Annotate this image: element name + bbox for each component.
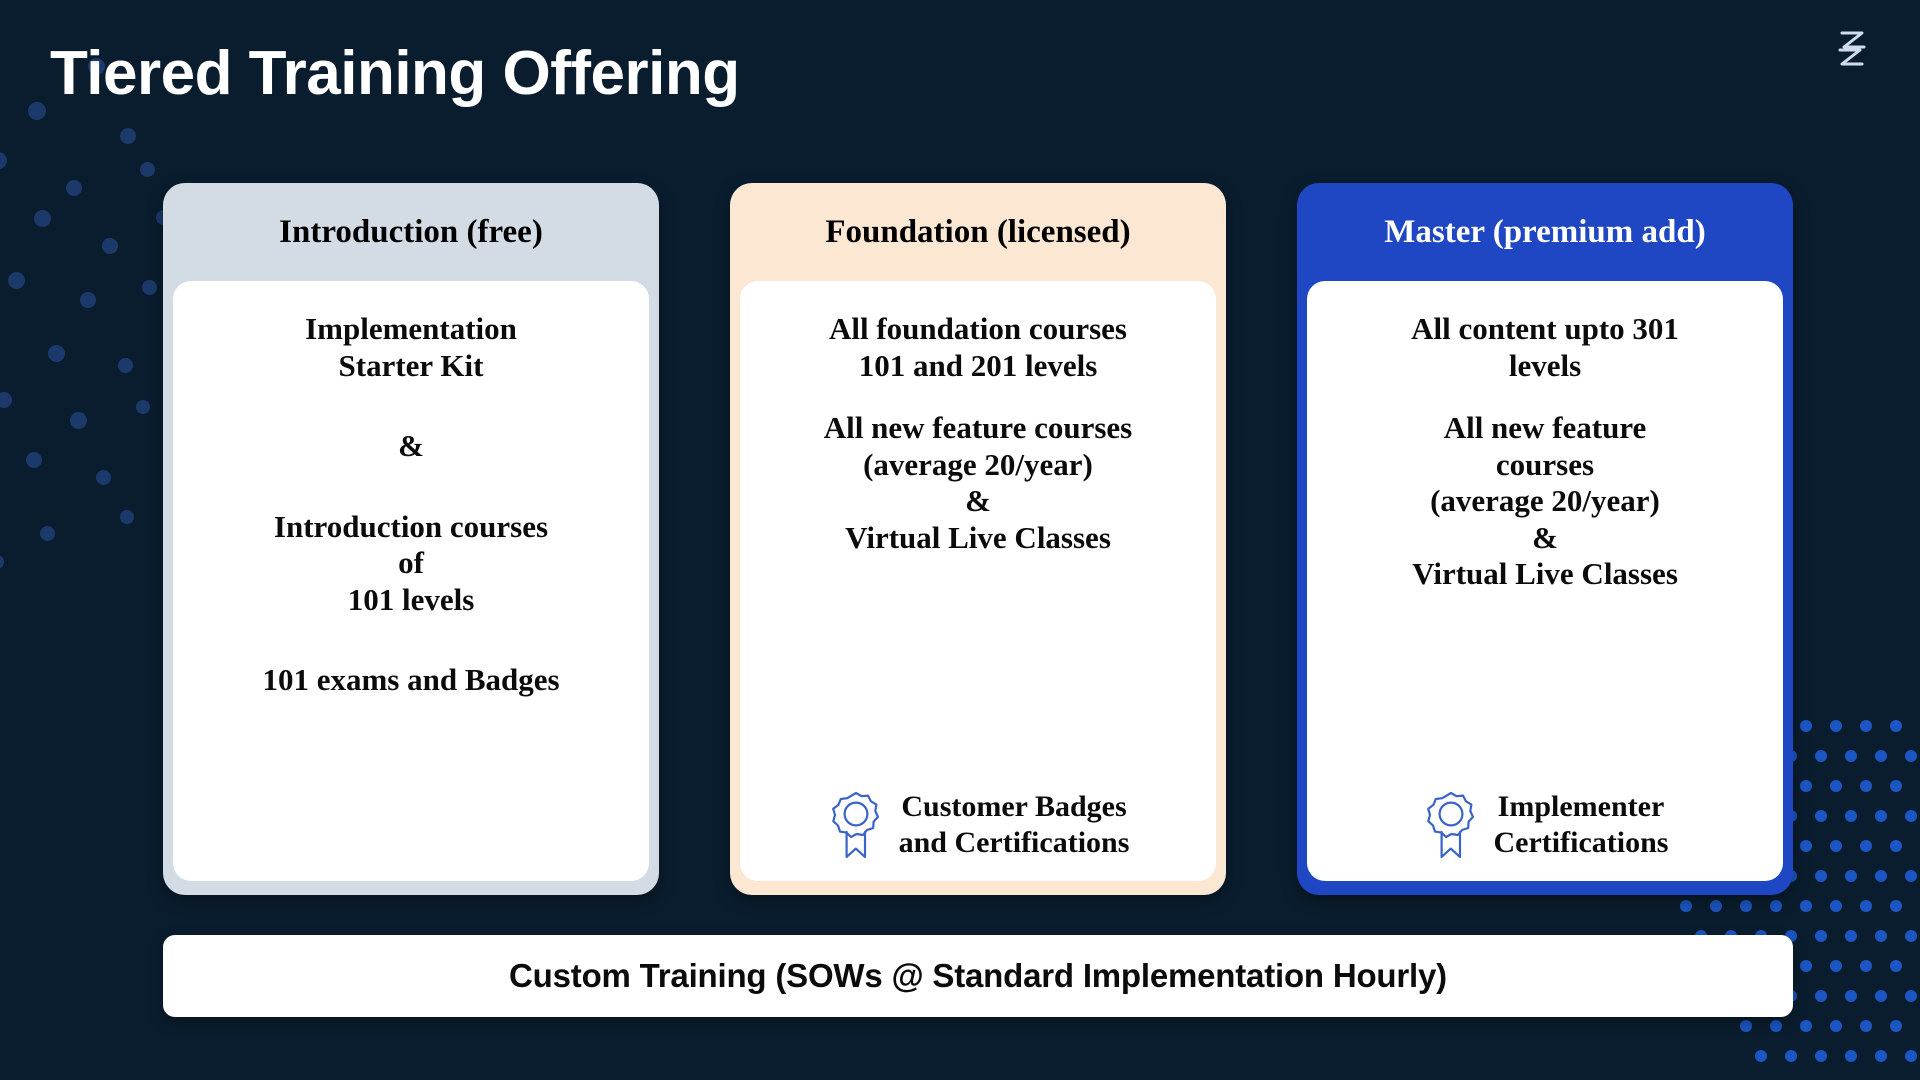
tier-badge-label: Customer Badges and Certifications — [899, 789, 1130, 861]
tier-card-title-master: Master (premium add) — [1297, 183, 1793, 281]
background-dot — [1800, 720, 1812, 732]
tier-card-master[interactable]: Master (premium add) All content upto 30… — [1297, 183, 1793, 895]
background-dot — [1860, 960, 1872, 972]
tier-card-body-introduction: Implementation Starter Kit & Introductio… — [173, 281, 649, 881]
background-dot — [1860, 780, 1872, 792]
award-badge-icon — [1422, 789, 1480, 861]
background-dot — [0, 555, 4, 569]
page-title: Tiered Training Offering — [50, 40, 740, 108]
background-dot — [1845, 810, 1857, 822]
background-dot — [1815, 990, 1827, 1002]
background-dot — [1830, 840, 1842, 852]
background-dot — [1815, 750, 1827, 762]
background-dot — [140, 162, 155, 177]
background-dot — [1890, 960, 1902, 972]
tier-feature-text: 101 exams and Badges — [262, 662, 559, 699]
background-dot — [120, 128, 136, 144]
background-dot — [1905, 1050, 1917, 1062]
background-dot — [1875, 990, 1887, 1002]
tier-feature-text: Implementation Starter Kit — [305, 311, 517, 384]
background-dot — [1905, 990, 1917, 1002]
company-logo-icon — [1824, 20, 1880, 76]
background-dot — [0, 152, 7, 169]
background-dot — [66, 180, 82, 196]
background-dot — [1875, 870, 1887, 882]
background-dot — [0, 392, 12, 408]
background-dot — [1815, 870, 1827, 882]
background-dot — [1860, 720, 1872, 732]
background-dot — [1875, 810, 1887, 822]
background-dot — [1740, 1020, 1752, 1032]
background-dot — [1785, 1050, 1797, 1062]
background-dot — [96, 470, 111, 485]
award-badge-icon — [827, 789, 885, 861]
tier-feature-text: All content upto 301 levels — [1411, 311, 1679, 384]
background-dot — [1860, 840, 1872, 852]
background-dot — [136, 400, 150, 414]
tier-feature-text: & — [398, 428, 424, 465]
background-dot — [1830, 900, 1842, 912]
tier-feature-text: All foundation courses 101 and 201 level… — [829, 311, 1127, 384]
background-dot — [1800, 780, 1812, 792]
custom-training-bar[interactable]: Custom Training (SOWs @ Standard Impleme… — [163, 935, 1793, 1017]
background-dot — [34, 210, 51, 227]
background-dot — [1845, 750, 1857, 762]
background-dot — [1830, 720, 1842, 732]
background-dot — [1845, 990, 1857, 1002]
tier-cards-row: Introduction (free) Implementation Start… — [163, 183, 1793, 895]
background-dot — [1860, 900, 1872, 912]
tier-card-introduction[interactable]: Introduction (free) Implementation Start… — [163, 183, 659, 895]
background-dot — [1890, 900, 1902, 912]
background-dot — [1845, 1050, 1857, 1062]
background-dot — [1710, 900, 1722, 912]
background-dot — [1770, 900, 1782, 912]
background-dot — [1905, 870, 1917, 882]
background-dot — [1890, 840, 1902, 852]
background-dot — [26, 452, 42, 468]
background-dot — [120, 510, 134, 524]
background-dot — [1830, 1020, 1842, 1032]
background-dot — [40, 526, 55, 541]
background-dot — [1800, 900, 1812, 912]
tier-card-title-foundation: Foundation (licensed) — [730, 183, 1226, 281]
tier-card-body-foundation: All foundation courses 101 and 201 level… — [740, 281, 1216, 881]
background-dot — [1890, 780, 1902, 792]
background-dot — [1830, 780, 1842, 792]
background-dot — [1875, 750, 1887, 762]
background-dot — [118, 358, 133, 373]
background-dot — [1770, 1020, 1782, 1032]
background-dot — [1875, 1050, 1887, 1062]
background-dot — [1800, 840, 1812, 852]
tier-badge-row-master: Implementer Certifications — [1325, 773, 1765, 861]
tier-card-title-introduction: Introduction (free) — [163, 183, 659, 281]
background-dot — [80, 292, 96, 308]
background-dot — [1680, 900, 1692, 912]
background-dot — [1905, 810, 1917, 822]
background-dot — [70, 412, 87, 429]
background-dot — [48, 345, 65, 362]
background-dot — [1905, 930, 1917, 942]
background-dot — [8, 272, 25, 289]
background-dot — [1890, 1020, 1902, 1032]
background-dot — [1830, 960, 1842, 972]
slide-canvas: Tiered Training Offering Introduction (f… — [0, 0, 1920, 1080]
background-dot — [1890, 720, 1902, 732]
tier-feature-text: All new feature courses (average 20/year… — [1412, 410, 1678, 593]
tier-badge-row-foundation: Customer Badges and Certifications — [758, 773, 1198, 861]
background-dot — [1800, 960, 1812, 972]
background-dot — [1875, 930, 1887, 942]
background-dot — [1905, 750, 1917, 762]
background-dot — [1740, 900, 1752, 912]
background-dot — [1815, 1050, 1827, 1062]
background-dot — [1845, 930, 1857, 942]
background-dot — [142, 280, 157, 295]
background-dot — [102, 238, 118, 254]
tier-feature-text: All new feature courses (average 20/year… — [824, 410, 1133, 556]
background-dot — [1815, 930, 1827, 942]
background-dot — [1800, 1020, 1812, 1032]
background-dot — [1845, 870, 1857, 882]
tier-card-body-master: All content upto 301 levels All new feat… — [1307, 281, 1783, 881]
custom-training-label: Custom Training (SOWs @ Standard Impleme… — [509, 957, 1447, 995]
background-dot — [1860, 1020, 1872, 1032]
background-dots-left — [0, 40, 190, 600]
background-dot — [1755, 1050, 1767, 1062]
tier-card-foundation[interactable]: Foundation (licensed) All foundation cou… — [730, 183, 1226, 895]
tier-feature-text: Introduction courses of 101 levels — [274, 509, 548, 619]
background-dot — [28, 102, 46, 120]
background-dot — [1815, 810, 1827, 822]
tier-badge-label: Implementer Certifications — [1494, 789, 1669, 861]
